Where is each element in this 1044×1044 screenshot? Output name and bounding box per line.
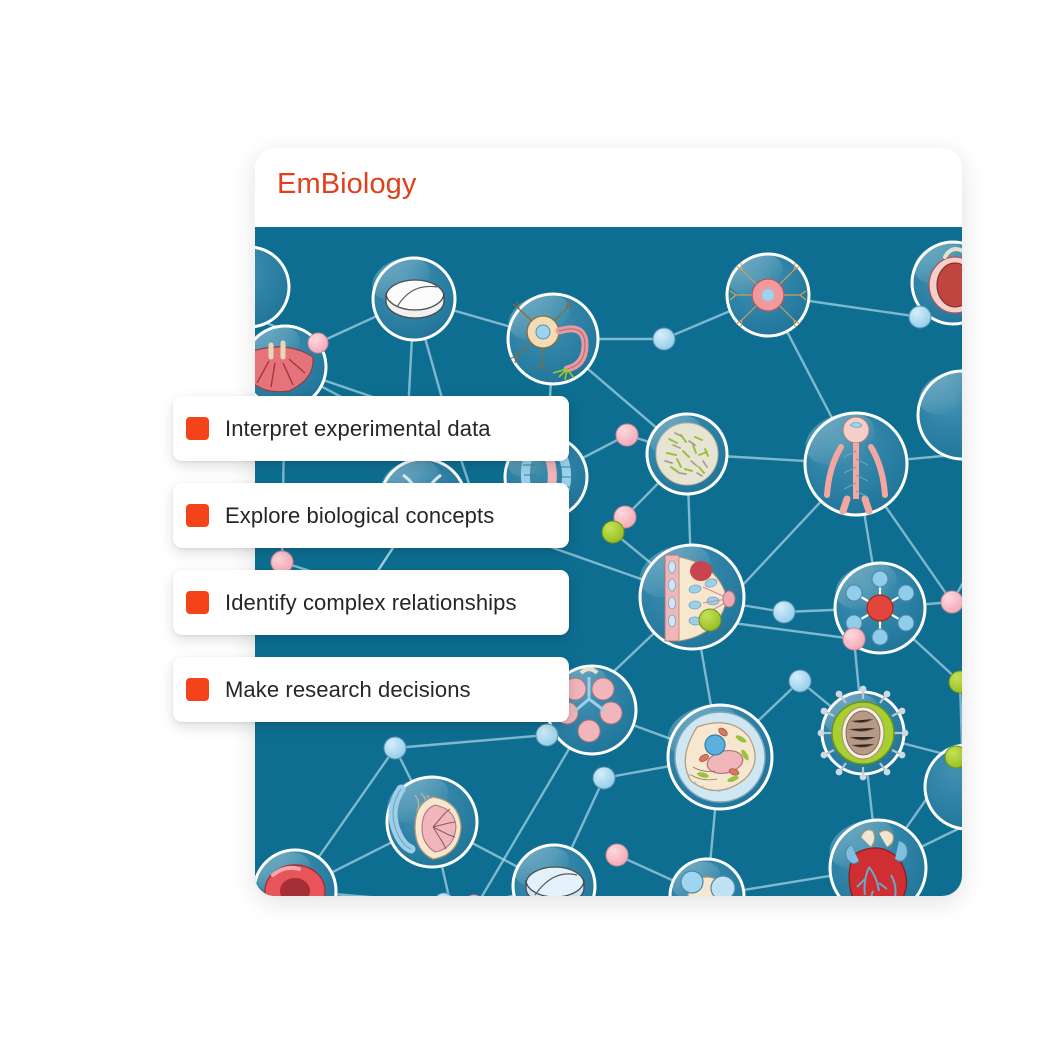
bubble-liver[interactable] (255, 319, 326, 408)
dot-green[interactable] (602, 521, 624, 543)
bacteria-colony-icon (656, 423, 718, 485)
orange-square-icon (186, 417, 209, 440)
dot-pink[interactable] (941, 591, 962, 613)
feature-card[interactable]: Interpret experimental data (173, 396, 569, 461)
dot-green[interactable] (699, 609, 721, 631)
bubble-pill-bottom[interactable] (509, 840, 595, 896)
bubble-edge-left-top[interactable] (255, 247, 289, 327)
dot-blue[interactable] (434, 893, 454, 896)
bubble-breast[interactable] (632, 535, 744, 649)
orange-square-icon (186, 591, 209, 614)
app-header: EmBiology (255, 148, 962, 227)
dot-blue[interactable] (593, 767, 615, 789)
pill-icon (526, 867, 584, 896)
bubble-pill-top[interactable] (366, 249, 455, 340)
dot-pink[interactable] (616, 424, 638, 446)
dot-blue[interactable] (773, 601, 795, 623)
dot-blue[interactable] (653, 328, 675, 350)
bubble-virus[interactable] (818, 686, 909, 781)
bubble-nerve-cell[interactable] (723, 247, 809, 336)
dot-blue[interactable] (909, 306, 931, 328)
feature-card[interactable]: Explore biological concepts (173, 483, 569, 548)
feature-card[interactable]: Make research decisions (173, 657, 569, 722)
dot-pink[interactable] (843, 628, 865, 650)
dot-blue[interactable] (789, 670, 811, 692)
feature-label: Make research decisions (225, 679, 471, 701)
animal-cell-icon (675, 712, 765, 802)
feature-label: Interpret experimental data (225, 418, 491, 440)
orange-square-icon (186, 678, 209, 701)
feature-callout-list: Interpret experimental data Explore biol… (173, 396, 569, 744)
orange-square-icon (186, 504, 209, 527)
app-title: EmBiology (277, 168, 417, 201)
bubble-neuron-axon[interactable] (501, 286, 598, 384)
feature-card[interactable]: Identify complex relationships (173, 570, 569, 635)
pill-icon (386, 280, 444, 318)
bubble-kidney[interactable] (380, 769, 477, 867)
feature-label: Identify complex relationships (225, 592, 517, 614)
feature-label: Explore biological concepts (225, 505, 494, 527)
bubble-red-blood-cell[interactable] (255, 845, 336, 896)
dot-pink[interactable] (606, 844, 628, 866)
bubble-cell-organelle[interactable] (660, 695, 772, 809)
dot-green[interactable] (945, 746, 962, 768)
dot-pink[interactable] (308, 333, 328, 353)
bubble-bacteria[interactable] (643, 408, 727, 494)
bubble-edge-right-top[interactable] (913, 363, 962, 459)
bubble-nervous-system[interactable] (798, 403, 907, 515)
bubble-molecule-cluster[interactable] (666, 855, 744, 896)
